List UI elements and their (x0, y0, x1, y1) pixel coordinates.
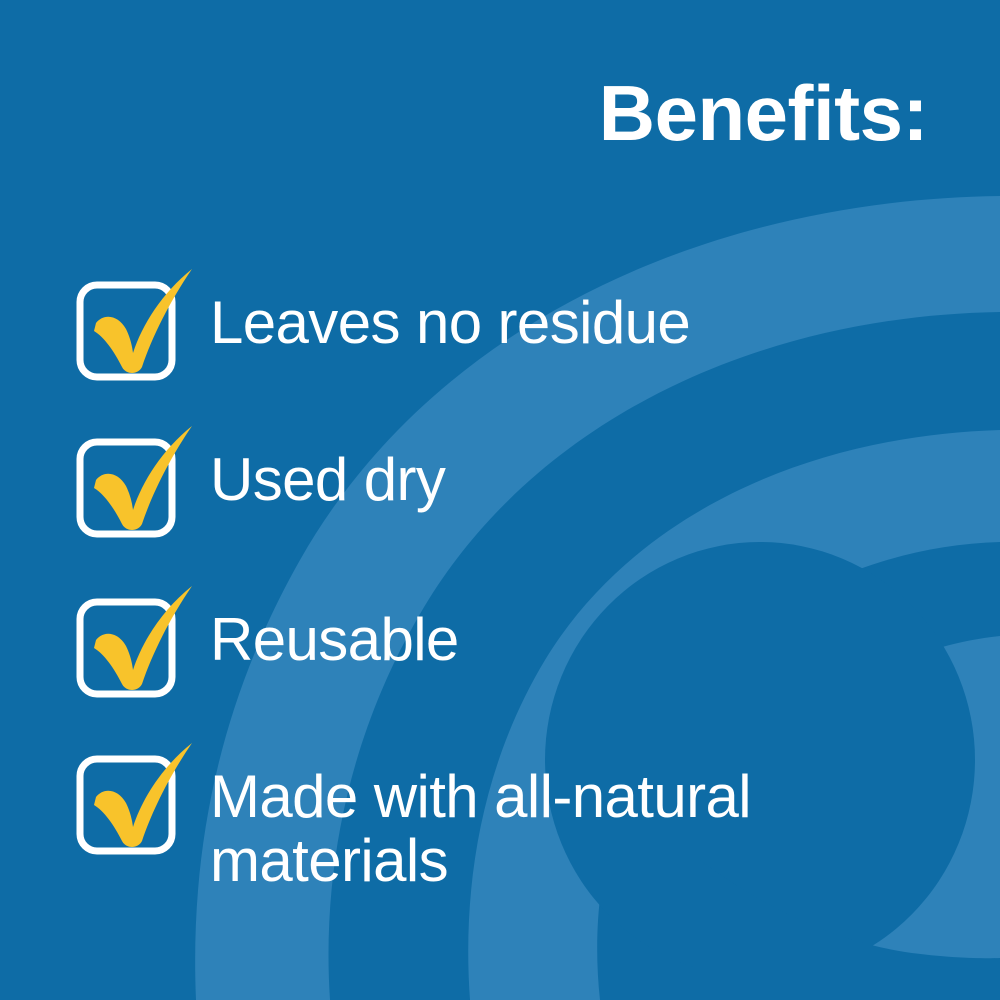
benefit-list-item: Made with all-natural materials (78, 757, 751, 892)
benefit-label: Used dry (210, 448, 445, 512)
benefits-graphic: Benefits: Leaves no residue Used dry (0, 0, 1000, 1000)
benefit-label: Made with all-natural materials (210, 765, 751, 892)
checkbox-checked-icon (78, 757, 174, 853)
checkbox-checked-icon (78, 600, 174, 696)
benefit-label: Reusable (210, 608, 459, 672)
checkbox-checked-icon (78, 283, 174, 379)
checkbox-checked-icon (78, 440, 174, 536)
page-title: Benefits: (599, 74, 928, 152)
benefit-list-item: Used dry (78, 440, 445, 536)
content-layer: Benefits: Leaves no residue Used dry (0, 0, 1000, 1000)
benefit-list-item: Reusable (78, 600, 459, 696)
benefit-list-item: Leaves no residue (78, 283, 690, 379)
benefit-label: Leaves no residue (210, 291, 690, 355)
